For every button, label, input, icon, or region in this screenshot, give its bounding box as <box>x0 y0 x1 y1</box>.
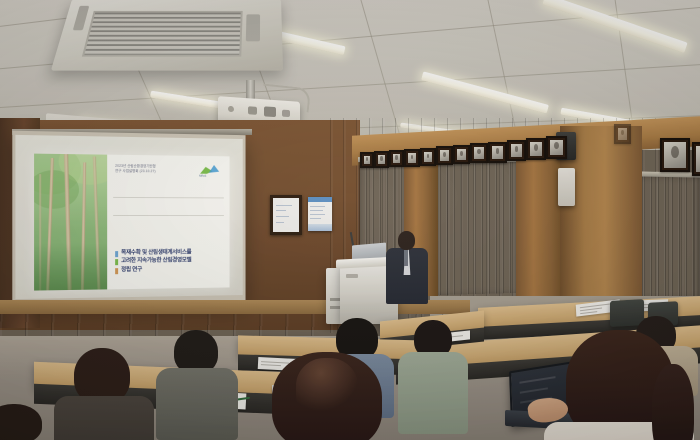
projection-screen: 2023년 산림순환경영기반형 연구 사업설명회 (23.10.27) NIFo… <box>12 131 245 306</box>
torso <box>398 352 468 434</box>
torso <box>156 368 238 440</box>
presentation-slide: 2023년 산림순환경영기반형 연구 사업설명회 (23.10.27) NIFo… <box>34 154 229 291</box>
ac-grille <box>82 11 243 57</box>
slide-title-line1: 목재수확 및 산림생태계서비스를 <box>115 249 224 257</box>
hair-front-strand <box>652 364 694 440</box>
ceiling-air-conditioner <box>51 0 283 71</box>
slide-header-line2: 연구 사업설명회 (23.10.27) <box>115 169 156 174</box>
portrait-frame <box>692 142 700 176</box>
window-blinds <box>636 171 700 300</box>
slide-forest-photo <box>34 154 107 291</box>
hair-highlight <box>296 358 358 418</box>
wall-speaker-white <box>558 168 575 206</box>
slide-title: 목재수확 및 산림생태계서비스를 고려한 지속가능한 산림경영모델 정립 연구 <box>115 249 224 275</box>
slide-title-line2: 고려한 지속가능한 산림경영모델 <box>115 257 224 265</box>
torso <box>54 396 154 440</box>
wall-poster <box>308 197 332 231</box>
portrait-gallery <box>352 126 700 166</box>
portrait-frame <box>660 138 690 172</box>
institute-logo-icon: NIFoS <box>198 164 223 178</box>
slide-title-line3: 정립 연구 <box>115 265 224 273</box>
presenter-hair <box>398 231 415 250</box>
conference-room-photo: 2023년 산림순환경영기반형 연구 사업설명회 (23.10.27) NIFo… <box>0 0 700 440</box>
presenter-tie <box>404 250 408 266</box>
slide-text-area: 2023년 산림순환경영기반형 연구 사업설명회 (23.10.27) NIFo… <box>107 155 229 290</box>
logo-text: NIFoS <box>199 175 206 178</box>
framed-certificate <box>270 195 302 235</box>
window-blinds <box>432 157 520 295</box>
